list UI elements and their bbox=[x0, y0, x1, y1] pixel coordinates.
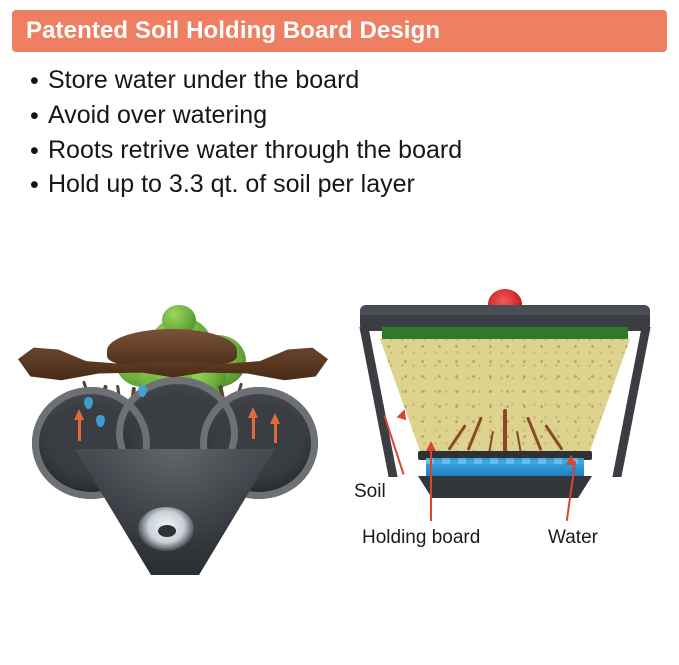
water-surface bbox=[426, 458, 584, 464]
planter-rim-lip bbox=[360, 305, 650, 315]
list-item: • Hold up to 3.3 qt. of soil per layer bbox=[30, 168, 667, 201]
callout-arrow-holding-board bbox=[426, 441, 436, 451]
list-item-label: Avoid over watering bbox=[48, 99, 267, 132]
product-infographic: Patented Soil Holding Board Design • Sto… bbox=[0, 0, 679, 665]
photo-row: Soil Holding board Water bbox=[12, 209, 667, 601]
callout-label-water: Water bbox=[548, 527, 598, 549]
water-flow-arrow bbox=[274, 423, 277, 443]
list-item-label: Store water under the board bbox=[48, 64, 359, 97]
planter-cross-section bbox=[360, 305, 650, 505]
planter-base bbox=[418, 476, 592, 498]
feature-list: • Store water under the board • Avoid ov… bbox=[12, 64, 667, 201]
list-item: • Roots retrive water through the board bbox=[30, 134, 667, 167]
callout-line-holding-board bbox=[430, 449, 432, 521]
callout-label-soil: Soil bbox=[354, 481, 386, 503]
water-flow-arrow bbox=[78, 419, 81, 441]
water-flow-arrow bbox=[252, 417, 255, 439]
water-flow-arrow-head bbox=[74, 409, 84, 420]
water-flow-arrow-head bbox=[248, 407, 258, 418]
grass-layer bbox=[382, 327, 628, 339]
list-item-label: Roots retrive water through the board bbox=[48, 134, 462, 167]
bullet-icon: • bbox=[30, 69, 48, 94]
callout-arrow-water bbox=[566, 455, 576, 465]
soil-mound bbox=[107, 329, 237, 365]
list-item-label: Hold up to 3.3 qt. of soil per layer bbox=[48, 168, 415, 201]
bullet-icon: • bbox=[30, 139, 48, 164]
drain-hole bbox=[158, 525, 176, 537]
list-item: • Store water under the board bbox=[30, 64, 667, 97]
page-title: Patented Soil Holding Board Design bbox=[26, 17, 440, 45]
cross-section-diagram: Soil Holding board Water bbox=[342, 209, 667, 601]
water-flow-arrow-head bbox=[270, 413, 280, 424]
header-banner: Patented Soil Holding Board Design bbox=[12, 10, 667, 52]
bullet-icon: • bbox=[30, 173, 48, 198]
root-main bbox=[503, 409, 507, 457]
product-photo-stacked-planter bbox=[12, 209, 342, 601]
callout-label-holding-board: Holding board bbox=[362, 527, 480, 549]
list-item: • Avoid over watering bbox=[30, 99, 667, 132]
bullet-icon: • bbox=[30, 104, 48, 129]
